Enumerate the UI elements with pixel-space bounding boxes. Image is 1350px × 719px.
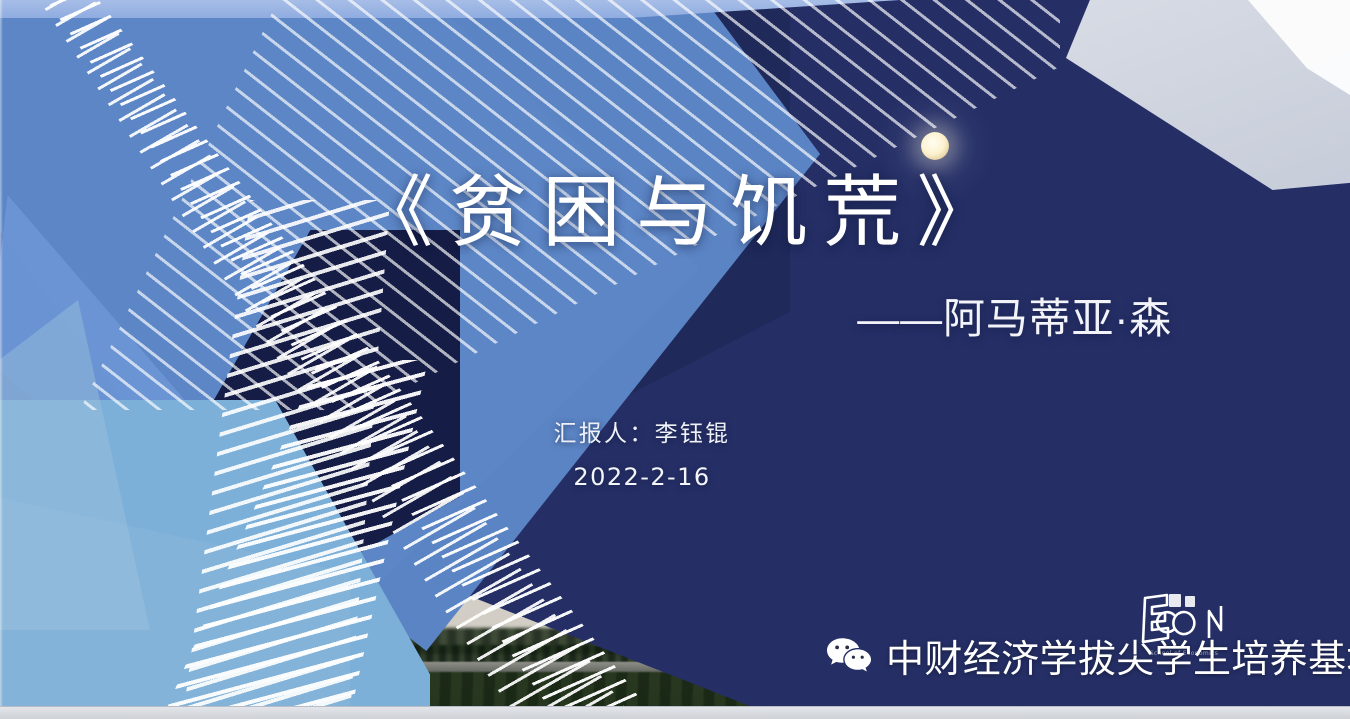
slide-title: 《贫困与饥荒》 — [0, 150, 1350, 262]
bottom-chrome-strip — [0, 706, 1350, 719]
left-edge-highlight — [0, 0, 3, 719]
presentation-date: 2022-2-16 — [0, 463, 1350, 491]
wechat-account-name: 中财经济学拔尖学生培养基地 — [886, 628, 1350, 683]
econ-logo-icon — [1133, 592, 1225, 650]
econ-logo-subtext: School of Economics — [1139, 650, 1229, 657]
slide-subtitle-author: ——阿马蒂亚·森 — [0, 285, 1350, 346]
wechat-icon — [826, 637, 872, 675]
wechat-watermark: 中财经济学拔尖学生培养基地 — [826, 628, 1350, 683]
presenter-label: 汇报人：李钰锟 — [0, 414, 1350, 448]
presentation-slide: 《贫困与饥荒》 ——阿马蒂亚·森 汇报人：李钰锟 2022-2-16 中财经济学… — [0, 0, 1350, 719]
